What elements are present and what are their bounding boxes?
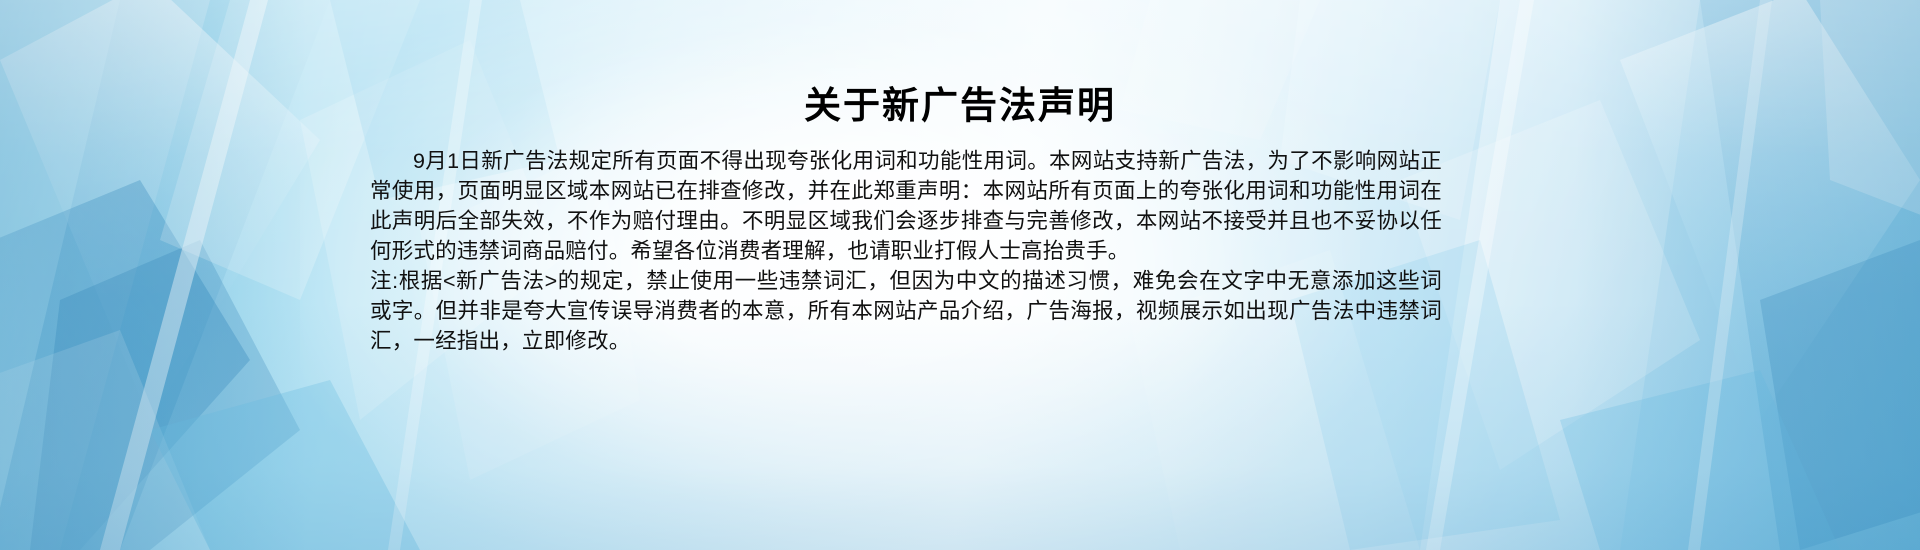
statement-body: 9月1日新广告法规定所有页面不得出现夸张化用词和功能性用词。本网站支持新广告法，… (370, 146, 1442, 356)
content-area: 关于新广告法声明 9月1日新广告法规定所有页面不得出现夸张化用词和功能性用词。本… (0, 0, 1920, 550)
announcement-banner: 关于新广告法声明 9月1日新广告法规定所有页面不得出现夸张化用词和功能性用词。本… (0, 0, 1920, 550)
statement-paragraph-2: 注:根据<新广告法>的规定，禁止使用一些违禁词汇，但因为中文的描述习惯，难免会在… (370, 266, 1442, 356)
statement-paragraph-1: 9月1日新广告法规定所有页面不得出现夸张化用词和功能性用词。本网站支持新广告法，… (370, 146, 1442, 266)
page-title: 关于新广告法声明 (0, 84, 1920, 128)
